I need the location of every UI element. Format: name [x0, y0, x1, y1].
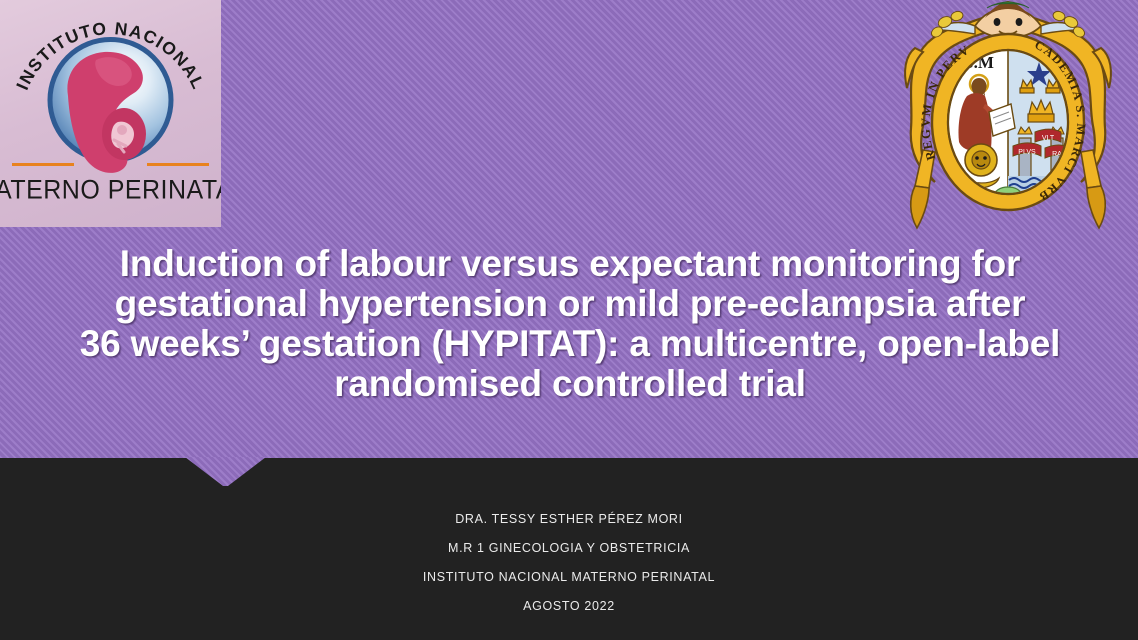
inmp-logo-graphic: INSTITUTO NACIONAL MATERNO PERINATAL	[0, 0, 221, 227]
credit-institution: INSTITUTO NACIONAL MATERNO PERINATAL	[0, 563, 1138, 592]
title-line-1: Induction of labour versus expectant mon…	[70, 244, 1070, 284]
slide-credits: DRA. TESSY ESTHER PÉREZ MORI M.R 1 GINEC…	[0, 505, 1138, 621]
pillar-motto-plvs: PLVS	[1018, 149, 1036, 156]
title-line-4: randomised controlled trial	[70, 364, 1070, 404]
logo-unmsm-coat-of-arms: REGVM IN PERV ACADEMIA S. MARCI VRBIS	[901, 0, 1115, 233]
presentation-slide: INSTITUTO NACIONAL MATERNO PERINATAL	[0, 0, 1138, 640]
title-line-2: gestational hypertension or mild pre-ecl…	[70, 284, 1070, 324]
pillar-motto-vlt: VLT	[1042, 135, 1055, 142]
slide-title: Induction of labour versus expectant mon…	[70, 244, 1070, 404]
credit-presenter: DRA. TESSY ESTHER PÉREZ MORI	[0, 505, 1138, 534]
unmsm-coat-of-arms-graphic: REGVM IN PERV ACADEMIA S. MARCI VRBIS	[901, 0, 1115, 233]
banner-notch-triangle	[185, 457, 266, 486]
credit-program: M.R 1 GINECOLOGIA Y OBSTETRICIA	[0, 534, 1138, 563]
title-line-3: 36 weeks’ gestation (HYPITAT): a multice…	[70, 324, 1070, 364]
inmp-wordmark: MATERNO PERINATAL	[0, 174, 221, 205]
credit-date: AGOSTO 2022	[0, 592, 1138, 621]
logo-instituto-nacional-materno-perinatal: INSTITUTO NACIONAL MATERNO PERINATAL	[0, 0, 221, 227]
